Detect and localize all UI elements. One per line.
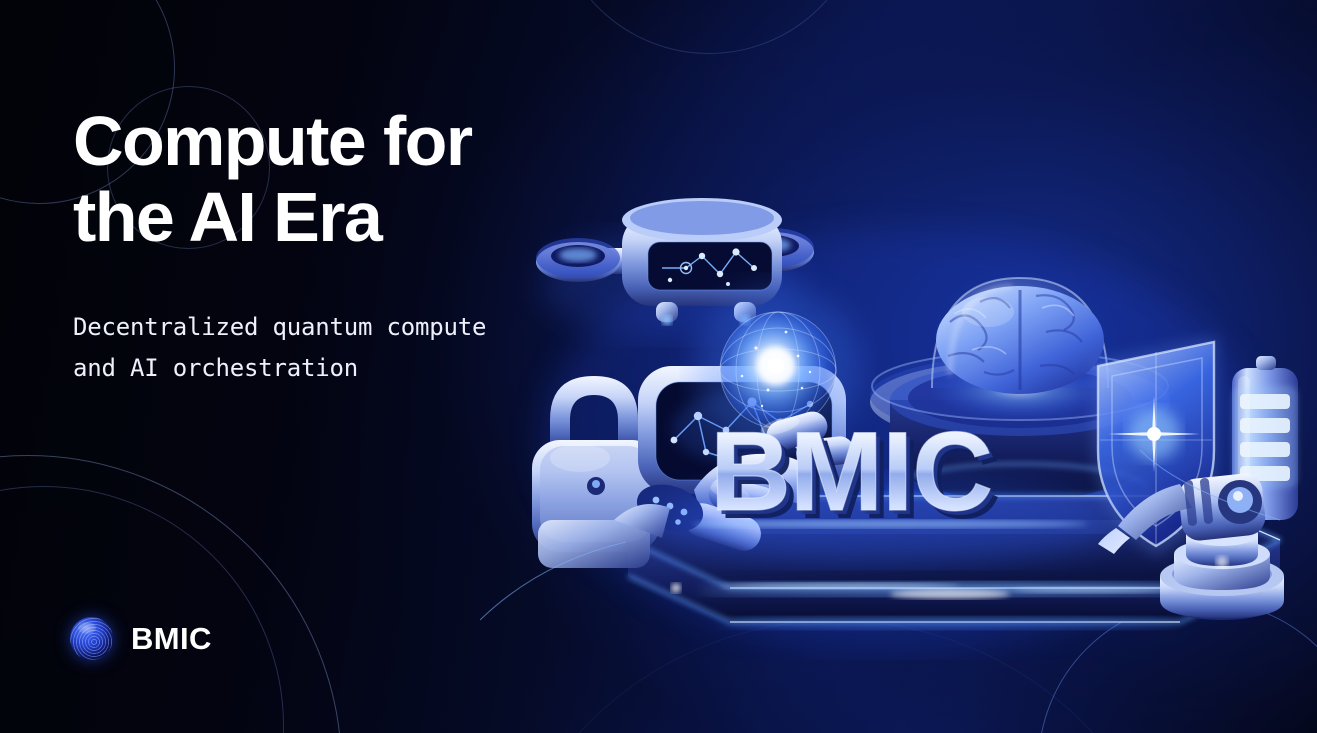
fingerprint-sphere-icon [70, 617, 113, 660]
hero-copy: Compute for the AI Era Decentralized qua… [73, 104, 633, 390]
hero-banner: BMIC BMIC BMIC Compute for the AI [0, 0, 1317, 733]
ring-top-arc [552, 0, 866, 54]
ring-bottom-left-outer [0, 455, 342, 733]
page-title: Compute for the AI Era [73, 104, 633, 255]
brain-shape [936, 286, 1104, 394]
wordmark-face: BMIC [710, 409, 992, 534]
hero-subtitle: Decentralized quantum compute and AI orc… [73, 307, 503, 390]
ring-bottom-left-inner [0, 486, 284, 733]
brand-lockup[interactable]: BMIC [70, 617, 212, 660]
brand-name: BMIC [131, 621, 212, 657]
